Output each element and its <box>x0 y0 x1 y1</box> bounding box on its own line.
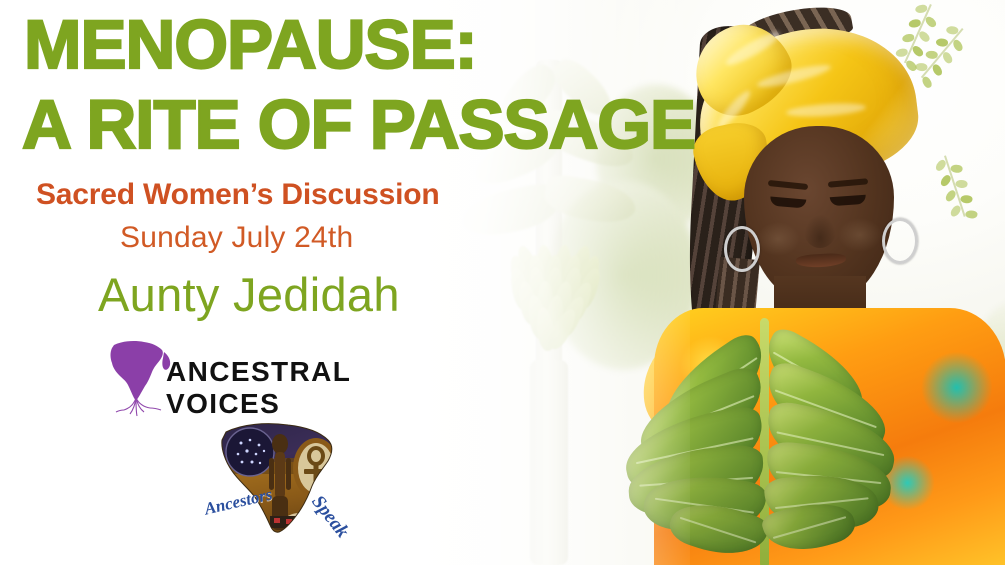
ancestral-voices-logo: ANCESTRAL VOICES <box>104 336 472 420</box>
hoop-earring <box>882 218 918 264</box>
event-date: Sunday July 24th <box>120 221 353 255</box>
eye-closed <box>830 195 867 206</box>
speaker-name: Aunty Jedidah <box>98 267 400 322</box>
cheek <box>756 222 800 256</box>
hoop-earring <box>724 226 760 272</box>
mouth <box>796 253 847 269</box>
cheek <box>838 218 882 252</box>
subtitle: Sacred Women’s Discussion <box>36 178 439 212</box>
ancestors-speak-logo: Ancestors Speak <box>198 418 384 563</box>
nose <box>804 214 836 248</box>
headline-line-1: MENOPAUSE: <box>24 14 477 76</box>
event-poster: MENOPAUSE: A RITE OF PASSAGE Sacred Wome… <box>0 0 1005 565</box>
eye-closed <box>770 196 807 208</box>
headline-line-2: A RITE OF PASSAGE <box>22 94 695 156</box>
eyebrow <box>768 180 808 190</box>
leaf-vein <box>773 516 846 539</box>
eyebrow <box>828 178 868 187</box>
ancestral-voices-wordmark: ANCESTRAL VOICES <box>166 356 472 420</box>
poster-text-column: MENOPAUSE: A RITE OF PASSAGE Sacred Wome… <box>0 0 700 565</box>
